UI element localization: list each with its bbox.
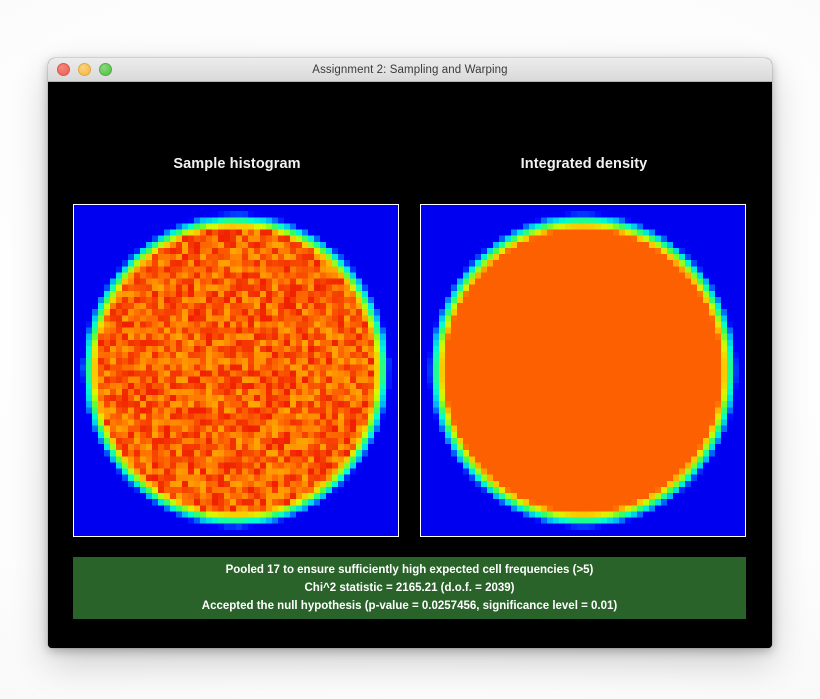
- heatmap-integrated-density: [421, 205, 745, 536]
- panel-title-integrated-density: Integrated density: [420, 156, 748, 172]
- status-line-decision: Accepted the null hypothesis (p-value = …: [202, 597, 617, 615]
- status-message-box: Pooled 17 to ensure sufficiently high ex…: [73, 557, 746, 619]
- window-titlebar[interactable]: Assignment 2: Sampling and Warping: [48, 58, 772, 82]
- status-line-pooling: Pooled 17 to ensure sufficiently high ex…: [226, 561, 594, 579]
- close-button[interactable]: [57, 63, 70, 76]
- plot-sample-histogram[interactable]: [73, 204, 399, 537]
- panel-title-sample-histogram: Sample histogram: [73, 156, 401, 172]
- window-title: Assignment 2: Sampling and Warping: [312, 64, 507, 76]
- minimize-button[interactable]: [78, 63, 91, 76]
- maximize-button[interactable]: [99, 63, 112, 76]
- application-window: Assignment 2: Sampling and Warping Sampl…: [48, 58, 772, 648]
- window-controls: [57, 58, 112, 81]
- render-canvas: Sample histogram Integrated density Pool…: [48, 82, 772, 648]
- status-line-chi2: Chi^2 statistic = 2165.21 (d.o.f. = 2039…: [305, 579, 515, 597]
- plot-integrated-density[interactable]: [420, 204, 746, 537]
- heatmap-sample-histogram: [74, 205, 398, 536]
